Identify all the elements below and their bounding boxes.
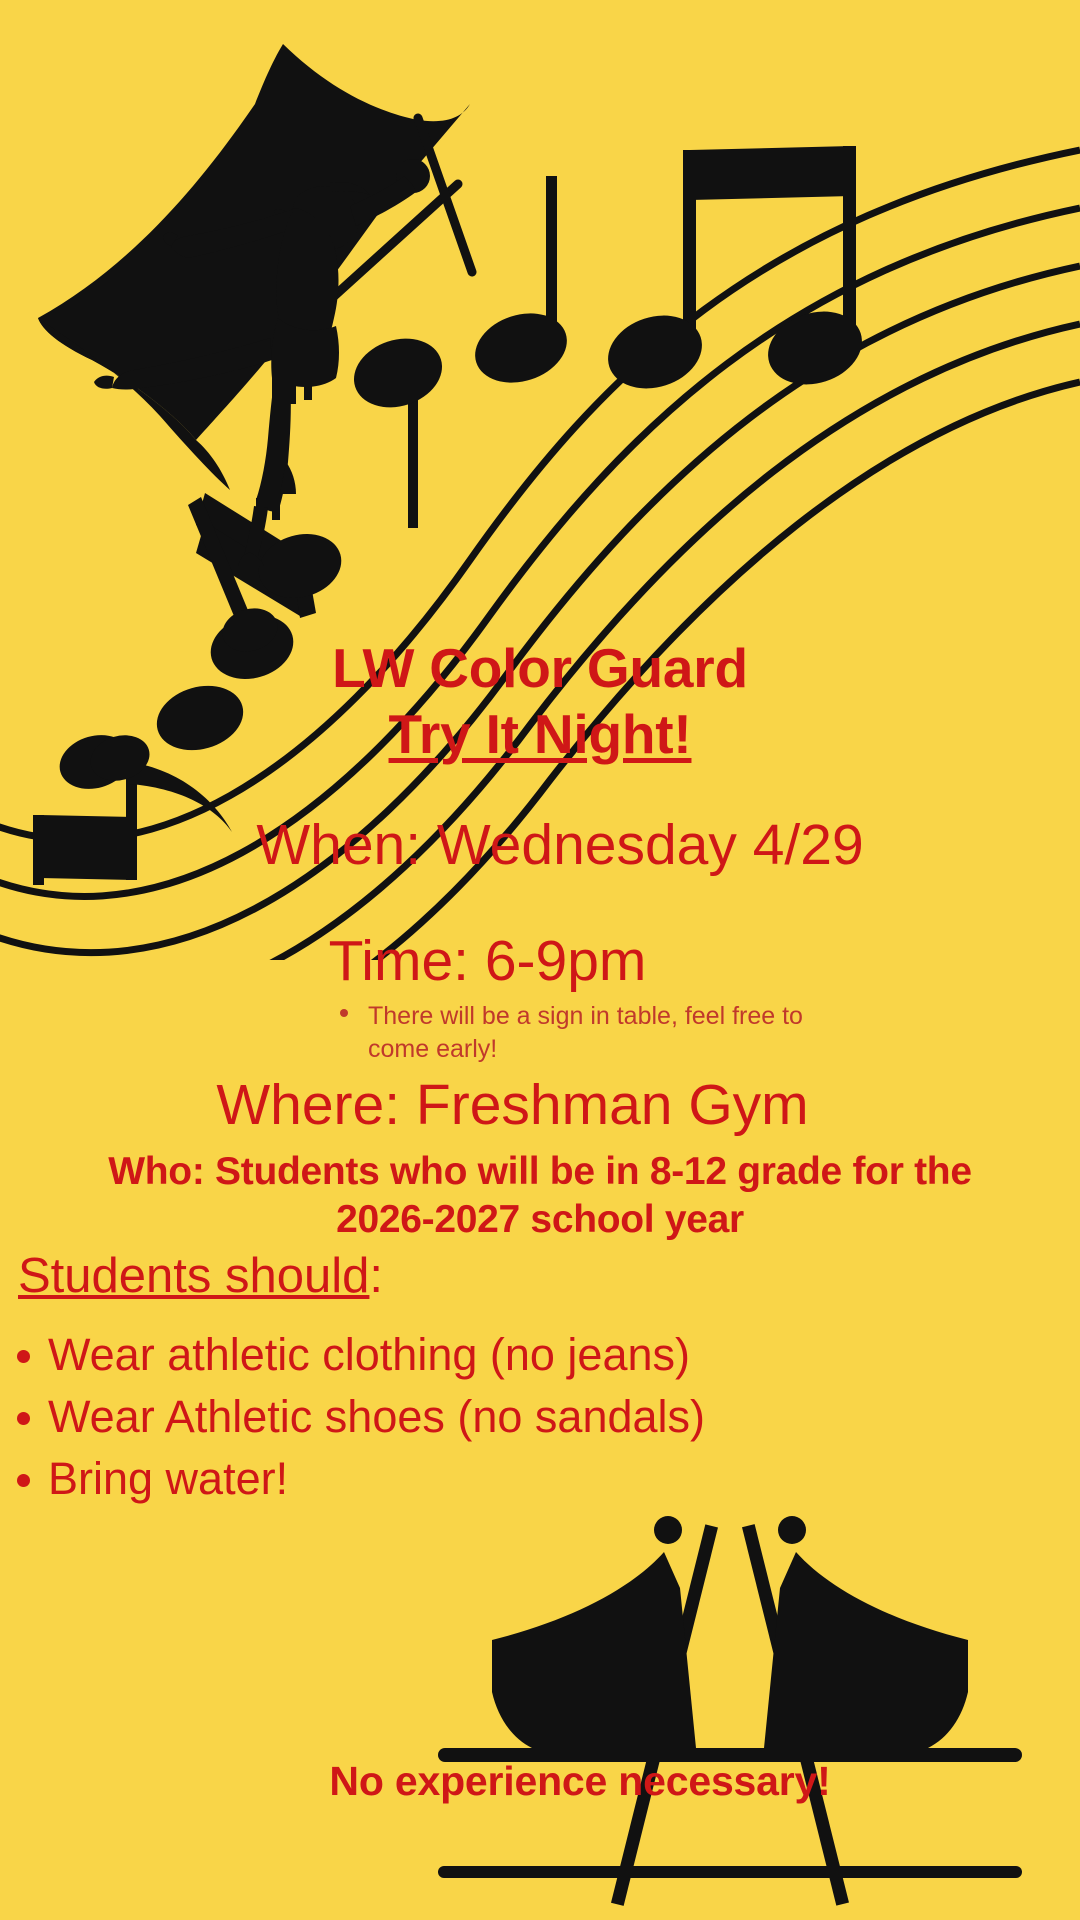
list-item-label: Wear Athletic shoes (no sandals): [48, 1391, 705, 1442]
list-item: Wear athletic clothing (no jeans): [0, 1328, 760, 1382]
flyer-text-content: LW Color Guard Try It Night! When: Wedne…: [0, 0, 1080, 1920]
title-line-2: Try It Night!: [389, 704, 692, 766]
bullet-dot-icon: [17, 1350, 30, 1363]
bullet-dot-icon: [17, 1412, 30, 1425]
title-line-1: LW Color Guard: [0, 638, 1080, 700]
flyer-title: LW Color Guard Try It Night!: [0, 638, 1080, 765]
where-line: Where: Freshman Gym: [0, 1072, 1080, 1138]
list-item-label: Wear athletic clothing (no jeans): [48, 1329, 690, 1380]
list-item: Bring water!: [0, 1452, 760, 1506]
who-line: Who: Students who will be in 8-12 grade …: [90, 1148, 990, 1243]
time-note-text: There will be a sign in table, feel free…: [340, 1000, 870, 1066]
bullet-dot-icon: [340, 1009, 348, 1017]
bullet-dot-icon: [17, 1474, 30, 1487]
students-should-list: Wear athletic clothing (no jeans) Wear A…: [0, 1328, 760, 1514]
list-item-label: Bring water!: [48, 1453, 288, 1504]
flyer-page: LW Color Guard Try It Night! When: Wedne…: [0, 0, 1080, 1920]
students-should-label: Students should: [18, 1249, 369, 1303]
time-line: Time: 6-9pm: [0, 928, 1080, 994]
list-item: Wear Athletic shoes (no sandals): [0, 1390, 760, 1444]
time-note-bullet: There will be a sign in table, feel free…: [340, 1000, 870, 1066]
footer-no-experience-necessary: No experience necessary!: [0, 1758, 1080, 1805]
students-should-heading: Students should:: [18, 1248, 383, 1304]
when-line: When: Wednesday 4/29: [0, 812, 1080, 878]
students-should-colon: :: [369, 1249, 383, 1303]
